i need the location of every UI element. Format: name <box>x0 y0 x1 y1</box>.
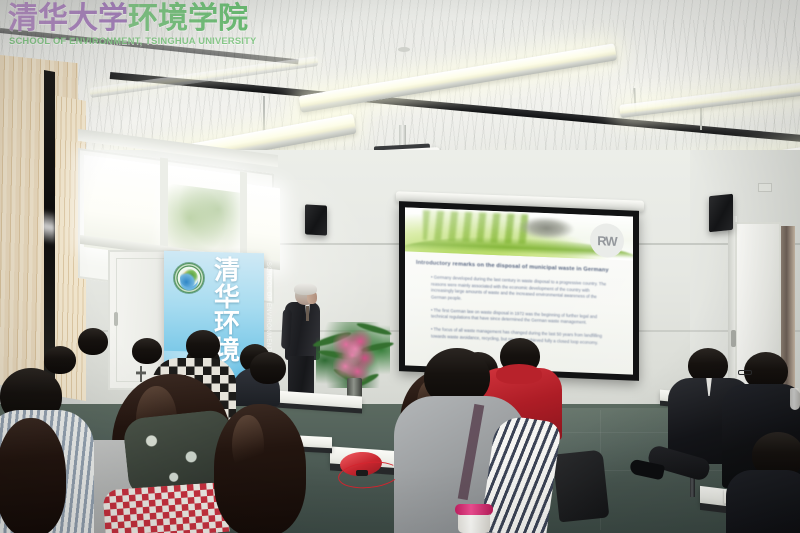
audience-head-plaid <box>250 352 286 384</box>
slide-bullet-2: • The first German law on waste disposal… <box>431 307 611 328</box>
rwth-logo-icon: RW <box>590 223 624 258</box>
window-greenery <box>168 183 240 256</box>
watermark-chinese: 清华大学环境学院 <box>8 2 248 36</box>
watermark-chinese-green: 环境学院 <box>128 1 248 36</box>
cable-reel-handle <box>356 470 368 476</box>
presenter-tie <box>306 306 309 321</box>
wood-wall-glint <box>42 209 55 245</box>
lecture-hall-photo: RW Introductory remarks on the disposal … <box>0 0 800 533</box>
wall-outlet <box>758 183 772 192</box>
smoke-detector-icon <box>398 47 410 52</box>
audience-body-suit-3 <box>726 470 800 533</box>
flower-blooms <box>333 330 377 382</box>
presenter-hair <box>294 283 317 295</box>
audience-glasses-icon <box>738 370 752 375</box>
wall-speaker-right <box>709 194 733 233</box>
watermark-english: SCHOOL OF ENVIRONMENT, TSINGHUA UNIVERSI… <box>9 35 256 46</box>
banner-english-text: SCHOOL OF ENVIRONMENT <box>257 262 271 352</box>
door-left-handle[interactable] <box>114 312 118 326</box>
audience-head-checkered <box>186 330 220 360</box>
audience-head-far-3 <box>78 328 108 355</box>
laptop-bag <box>553 450 610 523</box>
watermark: 清华大学环境学院 SCHOOL OF ENVIRONMENT, TSINGHUA… <box>6 2 270 50</box>
window-mullion-1 <box>160 157 168 258</box>
audience-hood-red <box>496 364 542 384</box>
audience-head-far-5 <box>132 338 162 364</box>
lamp-hanger-5 <box>700 108 702 130</box>
slide-header-graphic <box>519 216 574 240</box>
door-right-handle[interactable] <box>731 330 736 347</box>
audience-hair-far-left <box>0 418 66 533</box>
audience-plaid-shirt <box>102 482 229 533</box>
paper-cup-lid <box>455 504 493 515</box>
cup-right-edge <box>790 388 800 410</box>
wall-speaker-left <box>305 204 327 235</box>
slide-bullet-1: • Germany developed during the last cent… <box>431 274 611 308</box>
audience-head-far-4 <box>44 346 76 374</box>
slide-header-banner: RW <box>405 207 633 260</box>
school-emblem-inner <box>180 269 198 287</box>
audience-hair-right-woman <box>214 404 306 533</box>
watermark-chinese-purple: 清华大学 <box>8 1 128 36</box>
projector-mount-pole <box>399 125 406 147</box>
